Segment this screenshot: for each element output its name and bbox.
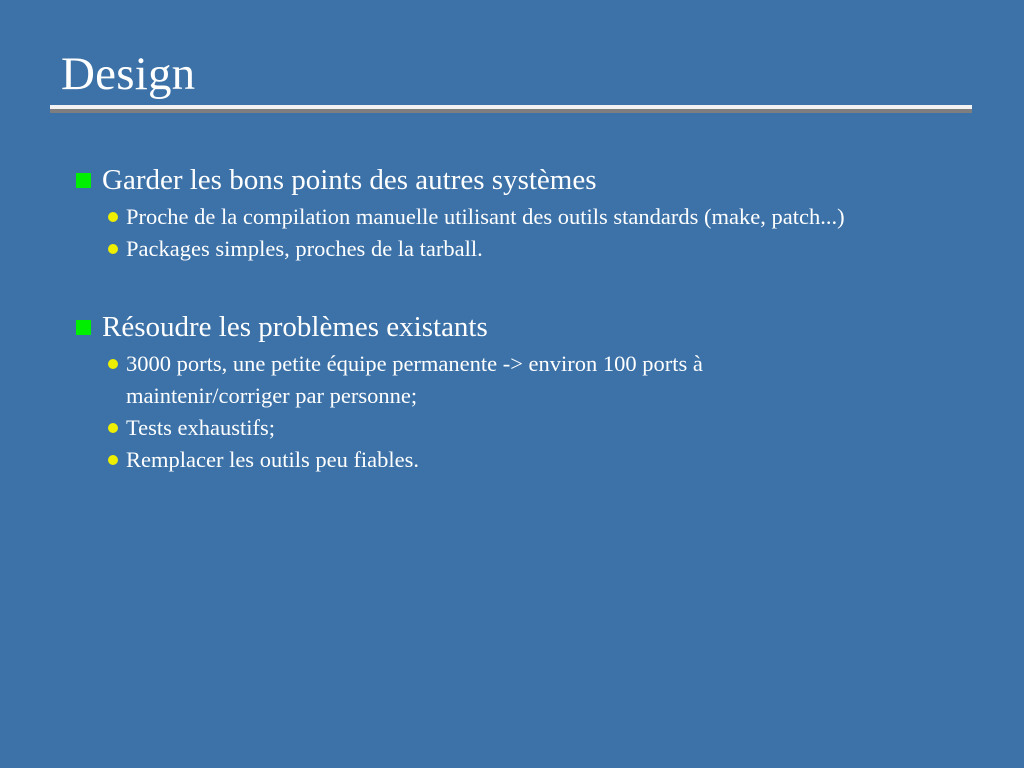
bullet-level2-list: Proche de la compilation manuelle utilis… [76, 201, 976, 265]
bullet-level2: Proche de la compilation manuelle utilis… [76, 201, 976, 233]
bullet-level1-label: Garder les bons points des autres systèm… [102, 160, 597, 200]
bullet-level1: Résoudre les problèmes existants [76, 307, 976, 347]
title-divider [50, 105, 972, 113]
page-title: Design [61, 48, 972, 100]
bullet-level2: 3000 ports, une petite équipe permanente… [76, 348, 976, 412]
dot-bullet-icon [108, 455, 118, 465]
bullet-level2: Packages simples, proches de la tarball. [76, 233, 976, 265]
slide-content-outline: Garder les bons points des autres systèm… [76, 160, 976, 476]
dot-bullet-icon [108, 212, 118, 222]
bullet-level2-label: Remplacer les outils peu fiables. [126, 444, 419, 476]
bullet-level2-label: Proche de la compilation manuelle utilis… [126, 201, 845, 233]
outline-group: Résoudre les problèmes existants 3000 po… [76, 307, 976, 476]
title-divider-shadow [50, 109, 972, 113]
square-bullet-icon [76, 173, 91, 188]
presentation-slide: Design Garder les bons points des autres… [0, 0, 1024, 768]
bullet-level1: Garder les bons points des autres systèm… [76, 160, 976, 200]
dot-bullet-icon [108, 423, 118, 433]
dot-bullet-icon [108, 244, 118, 254]
bullet-level1-label: Résoudre les problèmes existants [102, 307, 488, 347]
bullet-level2-list: 3000 ports, une petite équipe permanente… [76, 348, 976, 476]
bullet-level2-label: 3000 ports, une petite équipe permanente… [126, 348, 866, 412]
square-bullet-icon [76, 320, 91, 335]
group-spacer [76, 265, 976, 307]
bullet-level2: Tests exhaustifs; [76, 412, 976, 444]
bullet-level2-label: Packages simples, proches de la tarball. [126, 233, 483, 265]
bullet-level2: Remplacer les outils peu fiables. [76, 444, 976, 476]
bullet-level2-label: Tests exhaustifs; [126, 412, 275, 444]
dot-bullet-icon [108, 359, 118, 369]
outline-group: Garder les bons points des autres systèm… [76, 160, 976, 265]
slide-title-block: Design [50, 48, 972, 113]
